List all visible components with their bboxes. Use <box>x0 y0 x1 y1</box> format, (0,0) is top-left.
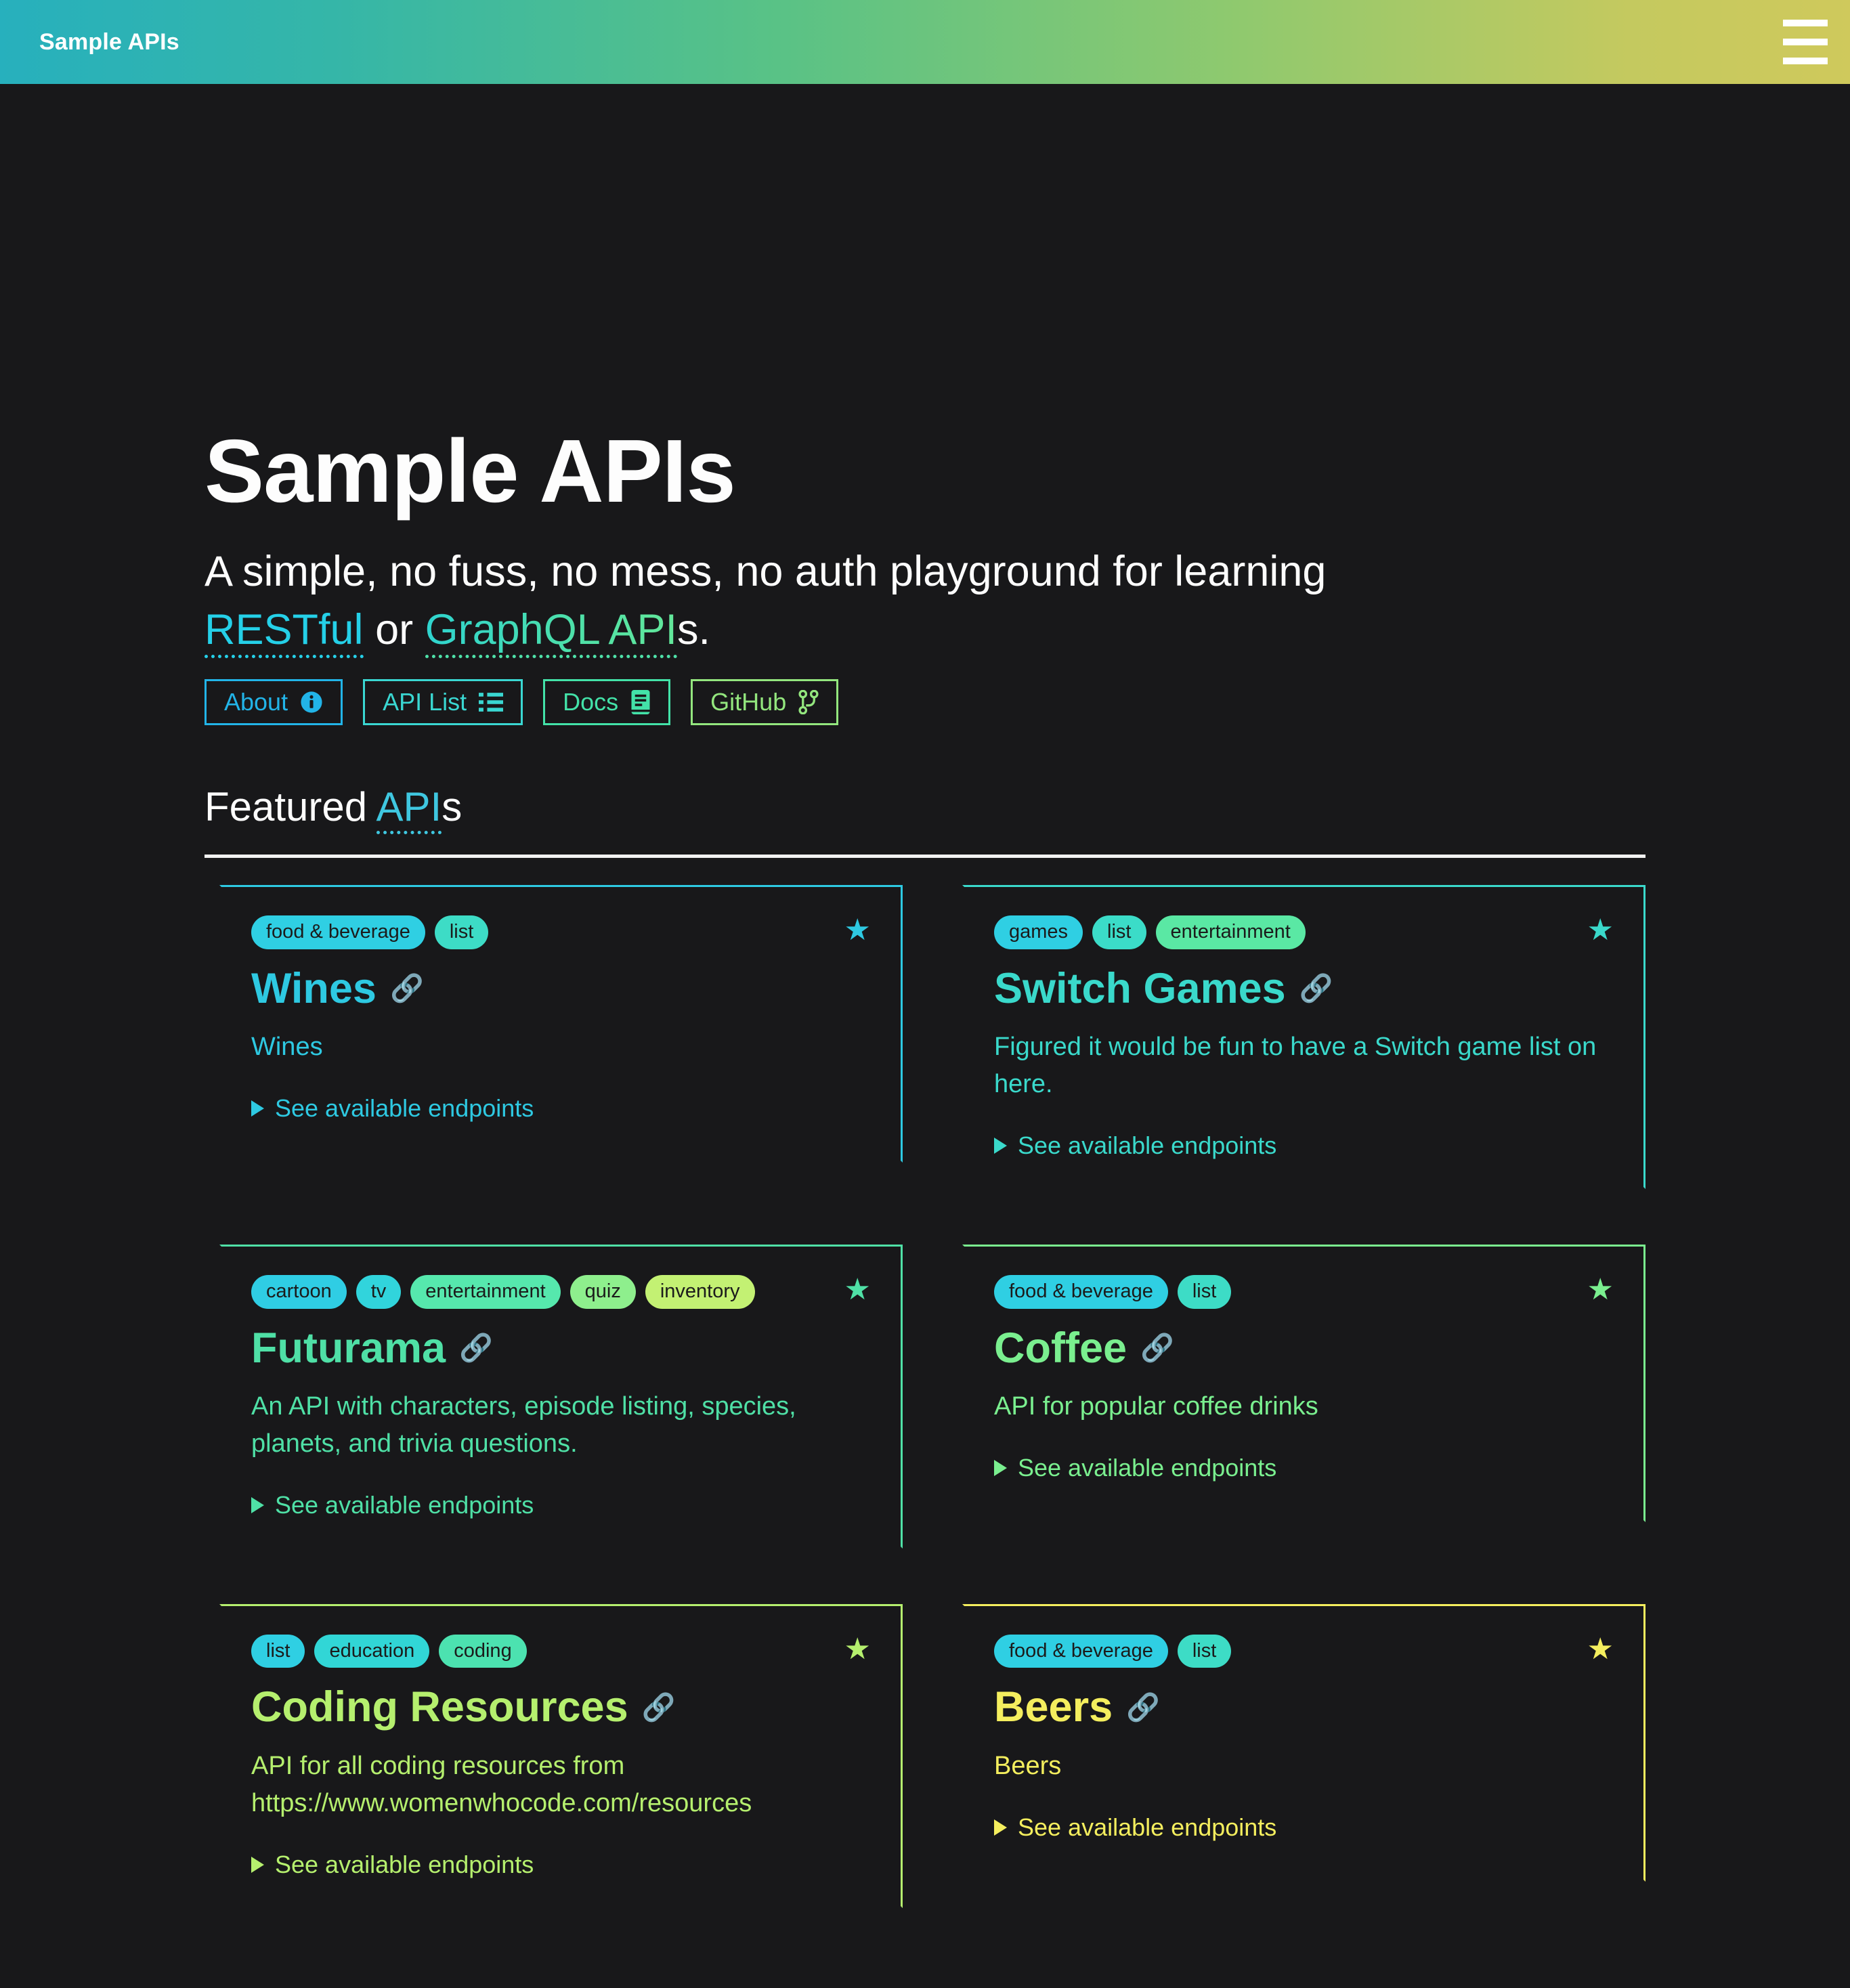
chevron-right-icon <box>251 1497 264 1513</box>
endpoints-summary[interactable]: See available endpoints <box>994 1131 1616 1160</box>
tag[interactable]: quiz <box>570 1275 636 1308</box>
app-header: Sample APIs <box>0 0 1850 84</box>
featured-heading-pre: Featured <box>205 784 377 829</box>
tag[interactable]: entertainment <box>410 1275 560 1308</box>
tag-row: cartoon tv entertainment quiz inventory <box>251 1275 874 1308</box>
tag[interactable]: games <box>994 915 1083 949</box>
tag[interactable]: food & beverage <box>994 1635 1168 1668</box>
nav-button-row: About API List Docs <box>205 679 1645 725</box>
endpoints-summary[interactable]: See available endpoints <box>251 1491 874 1519</box>
api-card-title[interactable]: Beers 🔗 <box>994 1684 1616 1731</box>
star-icon[interactable]: ★ <box>1587 915 1614 945</box>
api-card[interactable]: ★ food & beverage list Beers 🔗 Beers See… <box>947 1604 1645 1923</box>
subtitle-text-2: or <box>364 606 425 653</box>
chevron-right-icon <box>251 1100 264 1117</box>
featured-heading: Featured APIs <box>205 783 1645 830</box>
tag-row: food & beverage list <box>994 1635 1616 1668</box>
chain-link-icon[interactable]: 🔗 <box>1299 974 1333 1003</box>
tag[interactable]: list <box>1178 1635 1231 1668</box>
endpoints-disclosure[interactable]: See available endpoints <box>994 1454 1616 1482</box>
chain-link-icon[interactable]: 🔗 <box>1140 1333 1174 1363</box>
about-button[interactable]: About <box>205 679 343 725</box>
chevron-right-icon <box>251 1857 264 1873</box>
api-card-title[interactable]: Switch Games 🔗 <box>994 966 1616 1012</box>
tag[interactable]: education <box>314 1635 429 1668</box>
api-card-description: Wines <box>251 1029 874 1066</box>
github-button-label: GitHub <box>710 690 786 714</box>
api-card[interactable]: ★ food & beverage list Wines 🔗 Wines See… <box>205 885 903 1204</box>
tag-row: list education coding <box>251 1635 874 1668</box>
app-title: Sample APIs <box>39 29 179 56</box>
api-card[interactable]: ★ cartoon tv entertainment quiz inventor… <box>205 1245 903 1563</box>
star-icon[interactable]: ★ <box>1587 1635 1614 1664</box>
api-list-button-label: API List <box>383 690 467 714</box>
section-divider <box>205 855 1645 858</box>
api-card[interactable]: ★ games list entertainment Switch Games … <box>947 885 1645 1204</box>
tag[interactable]: coding <box>439 1635 526 1668</box>
info-circle-icon <box>300 691 323 714</box>
api-card-title-text: Switch Games <box>994 966 1286 1012</box>
api-card-description: Figured it would be fun to have a Switch… <box>994 1029 1616 1103</box>
endpoints-label: See available endpoints <box>275 1491 534 1519</box>
endpoints-label: See available endpoints <box>1018 1813 1276 1842</box>
git-branch-icon <box>798 690 819 714</box>
chain-link-icon[interactable]: 🔗 <box>390 974 424 1003</box>
endpoints-label: See available endpoints <box>1018 1454 1276 1482</box>
tag[interactable]: list <box>1178 1275 1231 1308</box>
chevron-right-icon <box>994 1138 1007 1154</box>
github-button[interactable]: GitHub <box>691 679 838 725</box>
api-card-description: API for all coding resources from https:… <box>251 1748 874 1822</box>
api-card-title-text: Wines <box>251 966 377 1012</box>
tag[interactable]: inventory <box>645 1275 755 1308</box>
featured-api-grid: ★ food & beverage list Wines 🔗 Wines See… <box>205 885 1645 1922</box>
tag[interactable]: list <box>1092 915 1146 949</box>
restful-link[interactable]: RESTful <box>205 606 364 658</box>
api-card-title[interactable]: Coffee 🔗 <box>994 1325 1616 1372</box>
endpoints-summary[interactable]: See available endpoints <box>994 1454 1616 1482</box>
tag[interactable]: list <box>251 1635 305 1668</box>
docs-button[interactable]: Docs <box>543 679 670 725</box>
endpoints-disclosure[interactable]: See available endpoints <box>994 1813 1616 1842</box>
tag[interactable]: list <box>435 915 488 949</box>
api-card-title[interactable]: Futurama 🔗 <box>251 1325 874 1372</box>
api-list-button[interactable]: API List <box>363 679 523 725</box>
endpoints-disclosure[interactable]: See available endpoints <box>251 1094 874 1123</box>
hamburger-bar <box>1783 39 1828 45</box>
page-title: Sample APIs <box>205 427 1645 516</box>
star-icon[interactable]: ★ <box>1587 1275 1614 1305</box>
api-card[interactable]: ★ list education coding Coding Resources… <box>205 1604 903 1923</box>
tag-row: food & beverage list <box>251 915 874 949</box>
star-icon[interactable]: ★ <box>844 1275 871 1305</box>
endpoints-disclosure[interactable]: See available endpoints <box>251 1491 874 1519</box>
api-card-description: API for popular coffee drinks <box>994 1388 1616 1425</box>
api-card-description: An API with characters, episode listing,… <box>251 1388 874 1463</box>
endpoints-summary[interactable]: See available endpoints <box>251 1094 874 1123</box>
tag[interactable]: food & beverage <box>251 915 425 949</box>
api-card-title-text: Coding Resources <box>251 1684 628 1731</box>
about-button-label: About <box>224 690 288 714</box>
endpoints-summary[interactable]: See available endpoints <box>251 1851 874 1879</box>
star-icon[interactable]: ★ <box>844 915 871 945</box>
tag-row: games list entertainment <box>994 915 1616 949</box>
book-icon <box>630 690 651 714</box>
tag[interactable]: food & beverage <box>994 1275 1168 1308</box>
api-glossary-link[interactable]: API <box>377 784 442 834</box>
subtitle-text-3: s. <box>677 606 710 653</box>
tag[interactable]: cartoon <box>251 1275 347 1308</box>
star-icon[interactable]: ★ <box>844 1635 871 1664</box>
api-card-title[interactable]: Wines 🔗 <box>251 966 874 1012</box>
page-subtitle: A simple, no fuss, no mess, no auth play… <box>205 543 1423 659</box>
featured-heading-post: s <box>442 784 462 829</box>
page-content: Sample APIs A simple, no fuss, no mess, … <box>205 84 1645 1923</box>
subtitle-text-1: A simple, no fuss, no mess, no auth play… <box>205 548 1326 595</box>
endpoints-disclosure[interactable]: See available endpoints <box>251 1851 874 1879</box>
chain-link-icon[interactable]: 🔗 <box>1126 1693 1160 1723</box>
api-card-description: Beers <box>994 1748 1616 1785</box>
api-card-title-text: Beers <box>994 1684 1113 1731</box>
list-icon <box>479 691 503 713</box>
endpoints-disclosure[interactable]: See available endpoints <box>994 1131 1616 1160</box>
endpoints-summary[interactable]: See available endpoints <box>994 1813 1616 1842</box>
api-card-title-text: Futurama <box>251 1325 446 1372</box>
chain-link-icon[interactable]: 🔗 <box>642 1693 676 1723</box>
chevron-right-icon <box>994 1819 1007 1836</box>
tag-row: food & beverage list <box>994 1275 1616 1308</box>
chevron-right-icon <box>994 1460 1007 1476</box>
hamburger-bar <box>1783 20 1828 26</box>
endpoints-label: See available endpoints <box>275 1851 534 1879</box>
hamburger-menu-icon[interactable] <box>1761 0 1850 84</box>
endpoints-label: See available endpoints <box>1018 1131 1276 1160</box>
chain-link-icon[interactable]: 🔗 <box>459 1333 493 1363</box>
api-card-title[interactable]: Coding Resources 🔗 <box>251 1684 874 1731</box>
api-card-title-text: Coffee <box>994 1325 1127 1372</box>
endpoints-label: See available endpoints <box>275 1094 534 1123</box>
hamburger-bar <box>1783 58 1828 64</box>
tag[interactable]: tv <box>356 1275 402 1308</box>
graphql-api-link[interactable]: GraphQL API <box>425 606 677 658</box>
api-card[interactable]: ★ food & beverage list Coffee 🔗 API for … <box>947 1245 1645 1563</box>
docs-button-label: Docs <box>563 690 618 714</box>
tag[interactable]: entertainment <box>1156 915 1306 949</box>
